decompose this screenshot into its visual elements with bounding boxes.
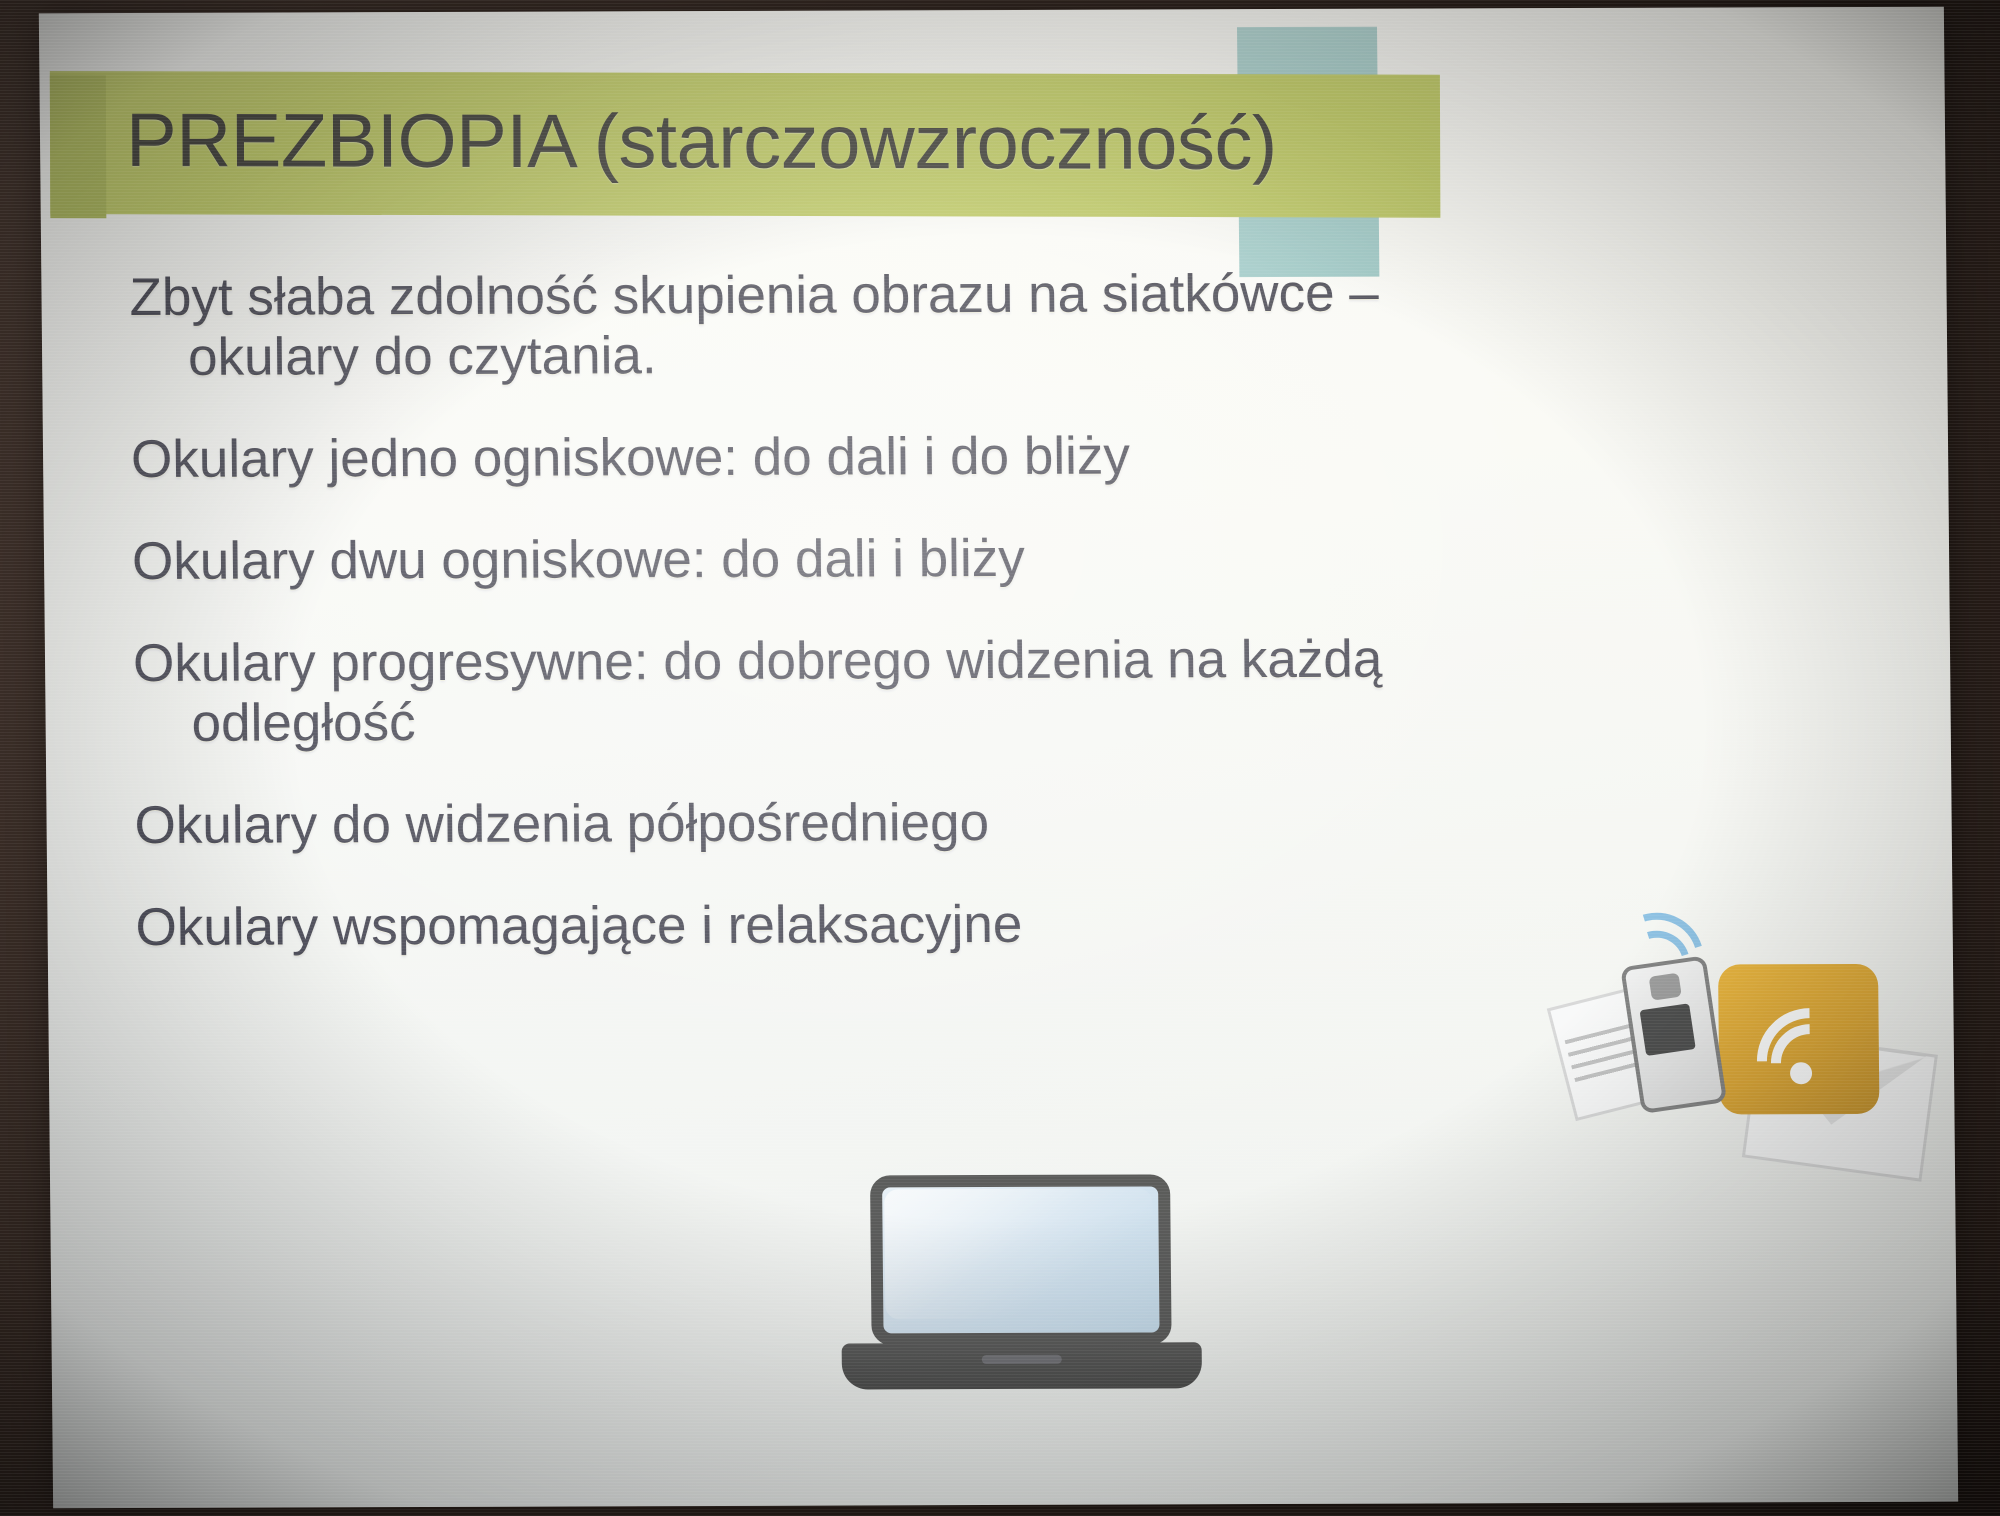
phone-screen-icon	[1640, 1003, 1696, 1056]
bullet-line-primary: Okulary dwu ogniskowe: do dali i bliży	[132, 529, 1025, 591]
laptop-touchpad-icon	[982, 1355, 1062, 1364]
projected-slide-photo: PREZBIOPIA (starczowzroczność) Zbyt słab…	[0, 0, 2000, 1516]
bullet-line-primary: Okulary progresywne: do dobrego widzenia…	[133, 630, 1383, 693]
list-item: Okulary progresywne: do dobrego widzenia…	[133, 629, 1434, 754]
wifi-dot-icon	[1790, 1062, 1812, 1084]
laptop-base-icon	[842, 1342, 1202, 1389]
list-item: Okulary dwu ogniskowe: do dali i bliży	[132, 527, 1433, 592]
list-item: Okulary wspomagające i relaksacyjne	[135, 893, 1436, 958]
bullet-line-primary: Okulary jedno ogniskowe: do dali i do bl…	[131, 427, 1130, 489]
slide-surface: PREZBIOPIA (starczowzroczność) Zbyt słab…	[39, 7, 1958, 1509]
bullet-line-primary: Zbyt słaba zdolność skupienia obrazu na …	[129, 264, 1379, 327]
bullet-line-primary: Okulary wspomagające i relaksacyjne	[135, 895, 1022, 957]
wireless-phone-envelope-clipart	[1558, 912, 1931, 1203]
bullet-line-continuation: odległość	[133, 689, 1434, 754]
list-item: Okulary do widzenia półpośredniego	[134, 791, 1435, 856]
list-item: Zbyt słaba zdolność skupienia obrazu na …	[129, 264, 1430, 389]
presentation-slide: PREZBIOPIA (starczowzroczność) Zbyt słab…	[39, 7, 1958, 1509]
list-item: Okulary jedno ogniskowe: do dali i do bl…	[131, 425, 1432, 490]
slide-title: PREZBIOPIA (starczowzroczność)	[126, 87, 1446, 198]
laptop-clipart	[840, 1174, 1202, 1395]
bullet-line-primary: Okulary do widzenia półpośredniego	[134, 793, 989, 855]
laptop-screen-glare	[884, 1188, 1153, 1319]
title-banner-tab	[50, 75, 107, 218]
slide-body-list: Zbyt słaba zdolność skupienia obrazu na …	[129, 264, 1436, 1001]
bullet-line-continuation: okulary do czytania.	[130, 323, 1431, 388]
